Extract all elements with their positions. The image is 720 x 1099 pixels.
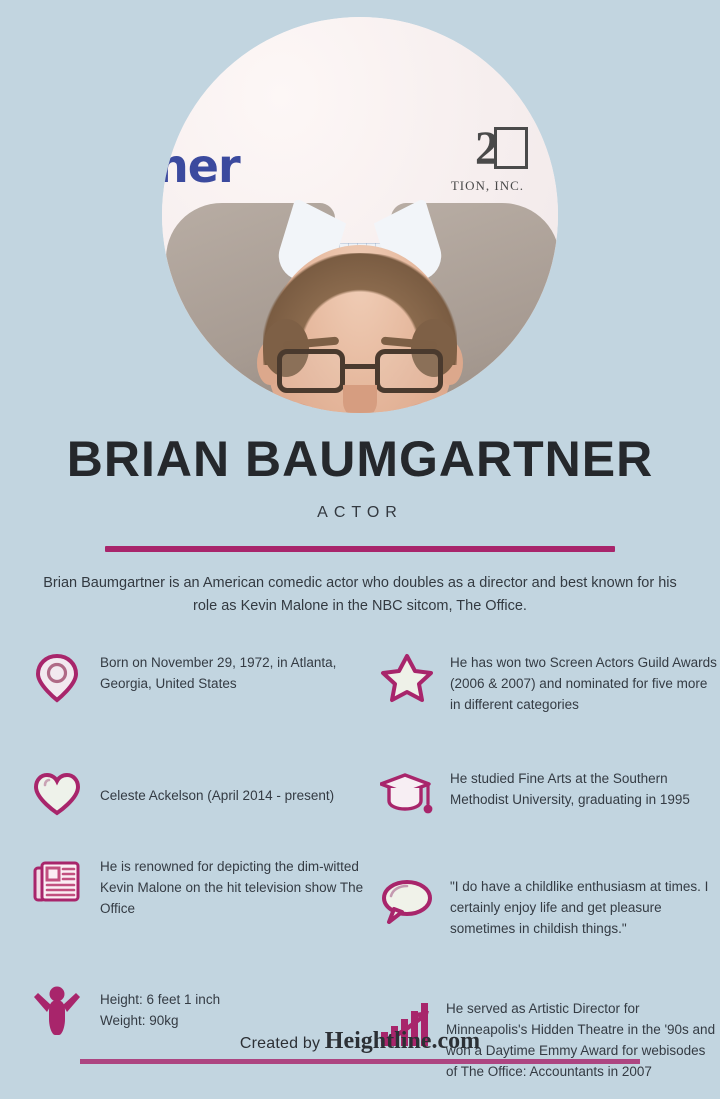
fact-spouse-text: Celeste Ackelson (April 2014 - present) (100, 782, 334, 807)
fact-role: He is renowned for depicting the dim-wit… (28, 853, 370, 953)
portrait-section: ner 2 TION, INC. (0, 0, 720, 430)
graduation-cap-icon (378, 765, 436, 823)
fact-education-text: He studied Fine Arts at the Southern Met… (450, 765, 720, 811)
backdrop-logo-box (494, 127, 528, 169)
lens-left (277, 349, 345, 393)
portrait-figure (164, 203, 556, 413)
fact-education: He studied Fine Arts at the Southern Met… (378, 765, 720, 857)
portrait-photo: ner 2 TION, INC. (162, 17, 558, 413)
star-icon (378, 649, 436, 707)
fact-awards-text: He has won two Screen Actors Guild Award… (450, 649, 720, 716)
fact-birth-text: Born on November 29, 1972, in Atlanta, G… (100, 649, 370, 695)
glasses-bridge (345, 364, 375, 369)
cheek-right (403, 403, 443, 413)
fact-role-text: He is renowned for depicting the dim-wit… (100, 853, 370, 920)
footer: Created by Heightline.com (0, 1028, 720, 1064)
fact-spouse: Celeste Ackelson (April 2014 - present) (28, 751, 370, 837)
backdrop-right-logo: 2 TION, INC. (451, 125, 524, 194)
footer-credit-prefix: Created by (240, 1035, 325, 1052)
lens-right (375, 349, 443, 393)
fact-quote: "I do have a childlike enthusiasm at tim… (378, 873, 720, 979)
role-subtitle: ACTOR (0, 504, 720, 522)
footer-credit: Created by Heightline.com (0, 1028, 720, 1055)
backdrop-right-logo-caption: TION, INC. (451, 178, 524, 194)
fact-birth: Born on November 29, 1972, in Atlanta, G… (28, 649, 370, 735)
nose (343, 385, 377, 413)
cheek-left (277, 403, 317, 413)
speech-bubble-icon (378, 873, 436, 931)
footer-divider (80, 1059, 640, 1064)
fact-measurements-text: Height: 6 feet 1 inch Weight: 90kg (100, 986, 220, 1032)
backdrop-left-logo-text: ner (162, 139, 240, 193)
location-pin-icon (28, 649, 86, 707)
fact-awards: He has won two Screen Actors Guild Award… (378, 649, 720, 749)
title-divider (105, 546, 615, 552)
page-title: BRIAN BAUMGARTNER (0, 434, 720, 484)
fact-quote-text: "I do have a childlike enthusiasm at tim… (450, 873, 720, 940)
intro-paragraph: Brian Baumgartner is an American comedic… (35, 572, 685, 619)
newspaper-icon (28, 853, 86, 911)
heart-icon (28, 765, 86, 823)
head (267, 245, 453, 413)
footer-brand[interactable]: Heightline.com (325, 1028, 480, 1054)
